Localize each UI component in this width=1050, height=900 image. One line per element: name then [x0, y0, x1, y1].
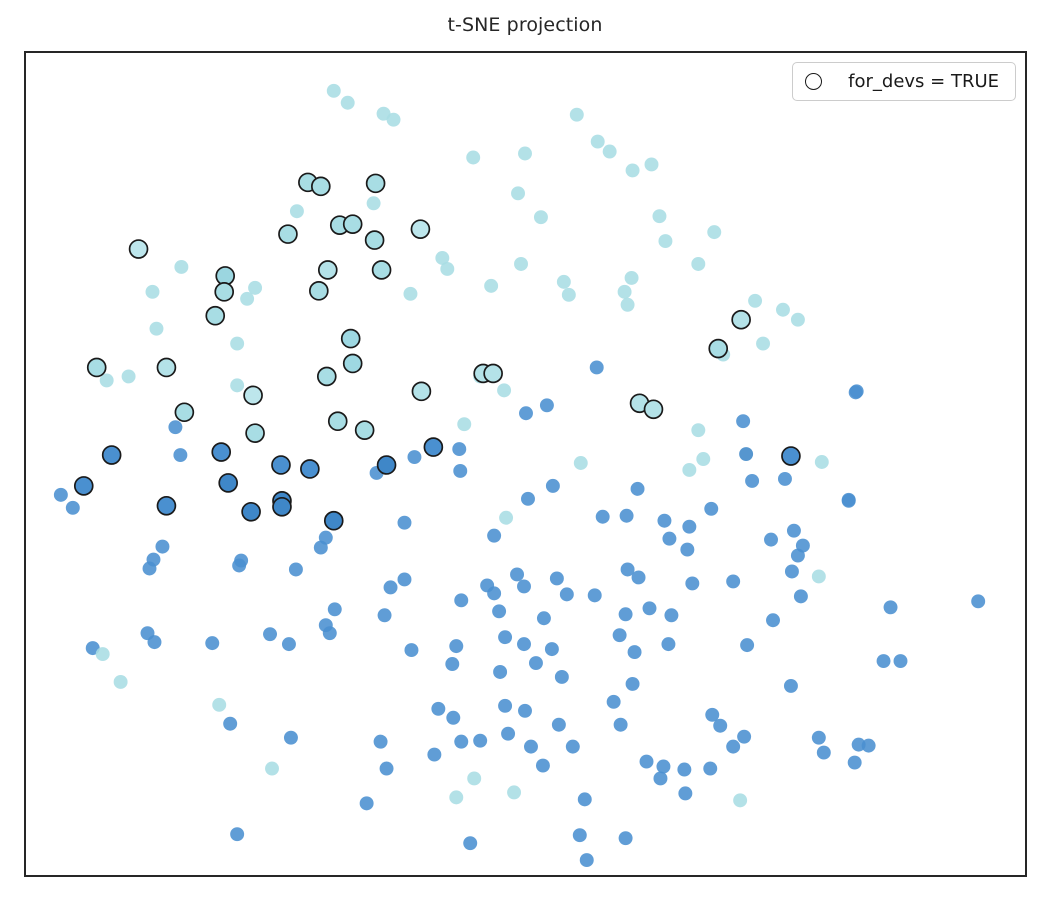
scatter-point	[122, 369, 136, 383]
scatter-point	[373, 261, 391, 279]
scatter-point	[175, 403, 193, 421]
scatter-point	[157, 497, 175, 515]
scatter-point	[645, 400, 663, 418]
scatter-point	[657, 514, 671, 528]
scatter-point	[578, 792, 592, 806]
scatter-point	[680, 543, 694, 557]
scatter-point	[733, 793, 747, 807]
scatter-point	[501, 727, 515, 741]
scatter-point	[661, 637, 675, 651]
scatter-point	[678, 786, 692, 800]
plot-area: for_devs = TRUE	[24, 51, 1027, 877]
scatter-point	[739, 447, 753, 461]
scatter-point	[517, 637, 531, 651]
scatter-point	[380, 762, 394, 776]
scatter-point	[157, 359, 175, 377]
scatter-point	[232, 559, 246, 573]
scatter-point	[325, 512, 343, 530]
scatter-point	[664, 608, 678, 622]
scatter-point	[691, 423, 705, 437]
scatter-point	[552, 718, 566, 732]
scatter-point	[88, 359, 106, 377]
scatter-point	[310, 282, 328, 300]
scatter-point	[367, 196, 381, 210]
scatter-point	[312, 177, 330, 195]
scatter-point	[155, 540, 169, 554]
scatter-point	[148, 635, 162, 649]
scatter-point	[507, 785, 521, 799]
scatter-point	[519, 406, 533, 420]
scatter-point	[103, 446, 121, 464]
scatter-point	[323, 626, 337, 640]
scatter-point	[877, 654, 891, 668]
scatter-point	[621, 298, 635, 312]
scatter-point	[562, 288, 576, 302]
scatter-point	[817, 746, 831, 760]
scatter-point	[524, 740, 538, 754]
scatter-point	[445, 657, 459, 671]
scatter-point	[466, 151, 480, 165]
scatter-point	[787, 524, 801, 538]
scatter-point	[143, 562, 157, 576]
scatter-point	[545, 642, 559, 656]
scatter-point	[607, 695, 621, 709]
scatter-point	[412, 382, 430, 400]
legend-entry-label: for_devs = TRUE	[848, 71, 999, 92]
scatter-point	[398, 516, 412, 530]
scatter-point	[625, 271, 639, 285]
scatter-point	[493, 665, 507, 679]
scatter-point	[230, 337, 244, 351]
scatter-point	[367, 174, 385, 192]
scatter-point	[424, 438, 442, 456]
scatter-point	[590, 361, 604, 375]
scatter-point	[603, 145, 617, 159]
scatter-point	[205, 636, 219, 650]
scatter-point	[246, 424, 264, 442]
scatter-point	[971, 594, 985, 608]
scatter-point	[703, 762, 717, 776]
scatter-point	[248, 281, 262, 295]
scatter-point	[206, 307, 224, 325]
scatter-point	[537, 611, 551, 625]
scatter-point	[580, 853, 594, 867]
scatter-point	[640, 755, 654, 769]
scatter-point	[219, 474, 237, 492]
scatter-point	[273, 498, 291, 516]
scatter-point	[557, 275, 571, 289]
scatter-point	[677, 763, 691, 777]
scatter-point	[574, 456, 588, 470]
scatter-point	[449, 639, 463, 653]
scatter-point	[791, 313, 805, 327]
scatter-point	[704, 502, 718, 516]
scatter-point	[736, 414, 750, 428]
scatter-point	[628, 645, 642, 659]
scatter-point	[619, 831, 633, 845]
scatter-point	[498, 630, 512, 644]
scatter-point	[848, 756, 862, 770]
scatter-point	[573, 828, 587, 842]
scatter-point	[726, 574, 740, 588]
scatter-point	[265, 762, 279, 776]
scatter-point	[536, 759, 550, 773]
scatter-point	[591, 135, 605, 149]
scatter-point	[467, 772, 481, 786]
scatter-point	[427, 748, 441, 762]
scatter-point	[766, 613, 780, 627]
scatter-point	[662, 532, 676, 546]
scatter-point	[407, 450, 421, 464]
scatter-point	[645, 157, 659, 171]
scatter-point	[378, 456, 396, 474]
scatter-point	[327, 84, 341, 98]
scatter-point	[404, 643, 418, 657]
scatter-point	[613, 628, 627, 642]
scatter-point	[517, 579, 531, 593]
scatter-point	[540, 398, 554, 412]
scatter-point	[546, 479, 560, 493]
scatter-point	[168, 420, 182, 434]
scatter-point	[378, 608, 392, 622]
scatter-point	[696, 452, 710, 466]
scatter-point	[709, 340, 727, 358]
scatter-point	[626, 677, 640, 691]
figure-canvas: t-SNE projection for_devs = TRUE	[0, 0, 1050, 900]
scatter-point	[290, 204, 304, 218]
scatter-point	[778, 472, 792, 486]
scatter-point	[342, 330, 360, 348]
scatter-point	[449, 790, 463, 804]
scatter-point	[794, 589, 808, 603]
scatter-point	[319, 261, 337, 279]
scatter-point	[341, 96, 355, 110]
scatter-point	[411, 220, 429, 238]
scatter-point	[732, 311, 750, 329]
scatter-point	[230, 378, 244, 392]
scatter-plot-canvas	[26, 53, 1025, 875]
scatter-point	[263, 627, 277, 641]
scatter-point	[487, 529, 501, 543]
scatter-point	[114, 675, 128, 689]
scatter-point	[454, 593, 468, 607]
scatter-point	[850, 384, 864, 398]
scatter-point	[521, 492, 535, 506]
scatter-point	[862, 739, 876, 753]
scatter-point	[560, 587, 574, 601]
open-circle-marker-icon	[805, 73, 822, 90]
scatter-point	[596, 510, 610, 524]
scatter-point	[457, 417, 471, 431]
scatter-point	[366, 231, 384, 249]
scatter-point	[440, 262, 454, 276]
scatter-point	[626, 163, 640, 177]
scatter-point	[510, 567, 524, 581]
scatter-point	[745, 474, 759, 488]
scatter-point	[431, 702, 445, 716]
scatter-point	[487, 586, 501, 600]
scatter-point	[497, 383, 511, 397]
scatter-point	[656, 760, 670, 774]
scatter-point	[566, 740, 580, 754]
scatter-point	[328, 602, 342, 616]
scatter-point	[511, 186, 525, 200]
scatter-point	[550, 571, 564, 585]
scatter-point	[484, 364, 502, 382]
scatter-point	[815, 455, 829, 469]
scatter-point	[282, 637, 296, 651]
scatter-point	[726, 740, 740, 754]
scatter-point	[618, 285, 632, 299]
scatter-point	[130, 240, 148, 258]
scatter-point	[463, 836, 477, 850]
scatter-point	[284, 731, 298, 745]
scatter-point	[632, 570, 646, 584]
scatter-point	[791, 549, 805, 563]
legend[interactable]: for_devs = TRUE	[792, 62, 1016, 101]
scatter-point	[614, 718, 628, 732]
scatter-point	[150, 322, 164, 336]
scatter-point	[685, 576, 699, 590]
scatter-point	[374, 735, 388, 749]
scatter-point	[446, 711, 460, 725]
scatter-point	[242, 503, 260, 521]
scatter-point	[619, 607, 633, 621]
scatter-point	[356, 421, 374, 439]
scatter-point	[764, 533, 778, 547]
scatter-point	[452, 442, 466, 456]
scatter-point	[453, 464, 467, 478]
scatter-point	[403, 287, 417, 301]
scatter-point	[344, 355, 362, 373]
page-title: t-SNE projection	[0, 14, 1050, 36]
scatter-point	[492, 604, 506, 618]
scatter-point	[272, 456, 290, 474]
scatter-group-for-devs-false	[54, 84, 985, 867]
scatter-point	[387, 113, 401, 127]
scatter-point	[812, 569, 826, 583]
scatter-point	[96, 647, 110, 661]
scatter-point	[682, 520, 696, 534]
scatter-point	[360, 796, 374, 810]
scatter-point	[570, 108, 584, 122]
scatter-point	[631, 482, 645, 496]
scatter-point	[66, 501, 80, 515]
scatter-point	[473, 734, 487, 748]
scatter-point	[398, 572, 412, 586]
scatter-point	[173, 448, 187, 462]
scatter-point	[518, 147, 532, 161]
scatter-point	[555, 670, 569, 684]
scatter-point	[776, 303, 790, 317]
scatter-point	[301, 460, 319, 478]
scatter-point	[643, 601, 657, 615]
scatter-point	[215, 283, 233, 301]
scatter-point	[682, 463, 696, 477]
scatter-point	[75, 477, 93, 495]
scatter-point	[652, 209, 666, 223]
scatter-point	[737, 730, 751, 744]
scatter-point	[842, 494, 856, 508]
scatter-point	[174, 260, 188, 274]
scatter-point	[318, 367, 336, 385]
scatter-point	[894, 654, 908, 668]
scatter-point	[289, 563, 303, 577]
scatter-point	[329, 412, 347, 430]
scatter-point	[498, 699, 512, 713]
scatter-point	[705, 708, 719, 722]
scatter-point	[784, 679, 798, 693]
scatter-point	[707, 225, 721, 239]
scatter-point	[529, 656, 543, 670]
scatter-point	[223, 717, 237, 731]
scatter-point	[212, 443, 230, 461]
scatter-point	[212, 698, 226, 712]
scatter-point	[658, 234, 672, 248]
scatter-point	[319, 531, 333, 545]
scatter-point	[484, 279, 498, 293]
scatter-point	[454, 735, 468, 749]
scatter-point	[756, 337, 770, 351]
scatter-point	[230, 827, 244, 841]
scatter-point	[244, 386, 262, 404]
scatter-point	[691, 257, 705, 271]
scatter-point	[812, 731, 826, 745]
scatter-point	[54, 488, 68, 502]
scatter-point	[514, 257, 528, 271]
scatter-point	[499, 511, 513, 525]
scatter-point	[518, 704, 532, 718]
scatter-point	[344, 215, 362, 233]
scatter-point	[653, 772, 667, 786]
scatter-point	[748, 294, 762, 308]
scatter-point	[740, 638, 754, 652]
scatter-point	[146, 285, 160, 299]
scatter-point	[384, 580, 398, 594]
scatter-point	[588, 588, 602, 602]
scatter-point	[620, 509, 634, 523]
scatter-point	[782, 447, 800, 465]
scatter-point	[785, 565, 799, 579]
scatter-point	[884, 600, 898, 614]
scatter-point	[534, 210, 548, 224]
scatter-point	[279, 225, 297, 243]
